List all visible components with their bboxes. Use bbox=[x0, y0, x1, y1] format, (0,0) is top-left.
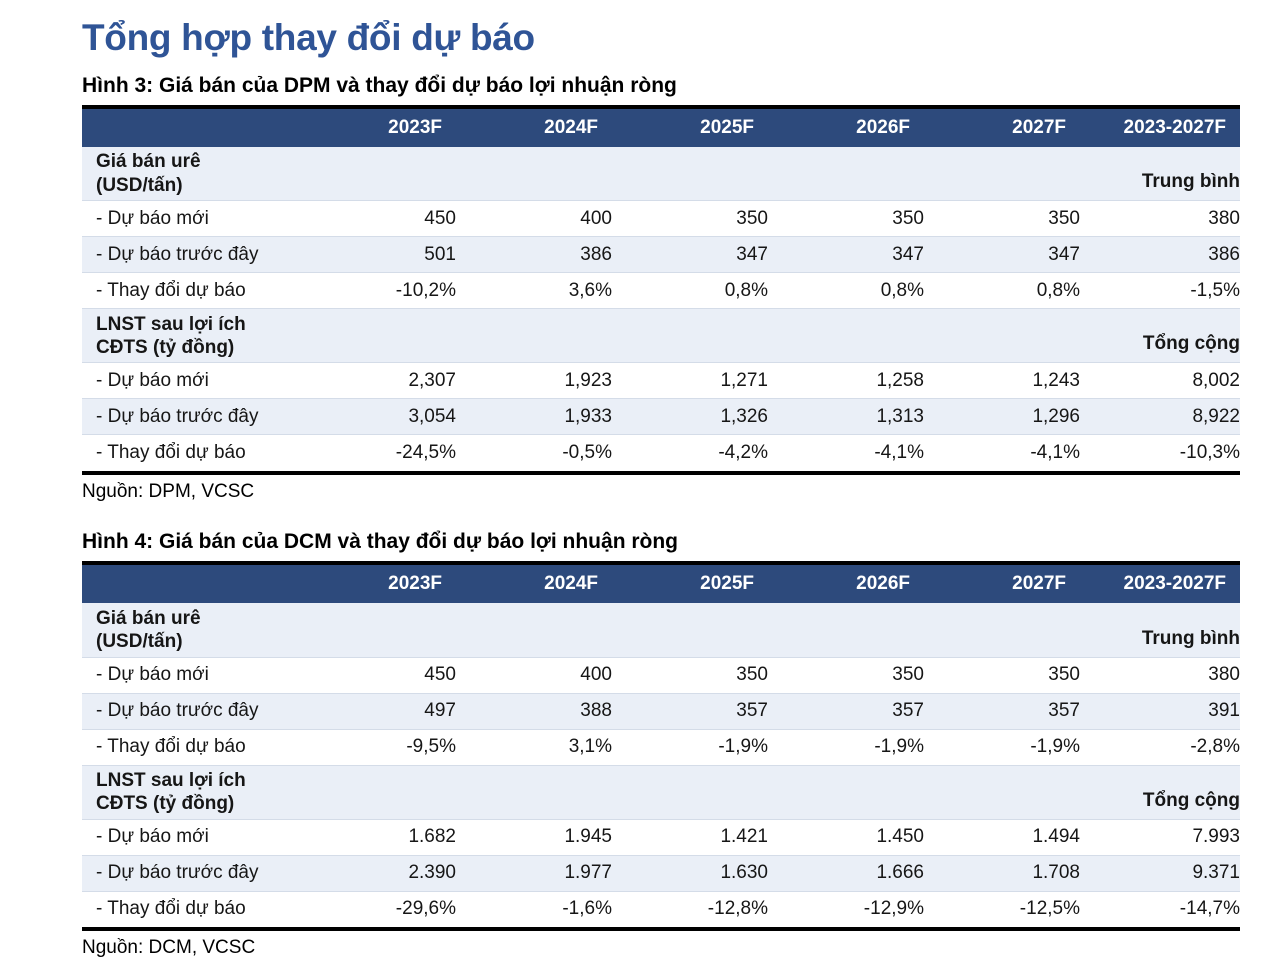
section-header-row: LNST sau lợi ích CĐTS (tỷ đồng) Tổng cộn… bbox=[82, 765, 1240, 819]
cell-value: -10,2% bbox=[300, 273, 456, 309]
cell-value: 1,933 bbox=[456, 399, 612, 435]
cell-value: -24,5% bbox=[300, 435, 456, 471]
section-summary-label: Tổng cộng bbox=[1080, 765, 1240, 819]
section-summary-label: Tổng cộng bbox=[1080, 309, 1240, 363]
table-row: - Dự báo trước đây 3,054 1,933 1,326 1,3… bbox=[82, 399, 1240, 435]
cell-value: 8,922 bbox=[1080, 399, 1240, 435]
column-header-2023f: 2023F bbox=[300, 563, 456, 603]
figure-2-table: 2023F 2024F 2025F 2026F 2027F 2023-2027F… bbox=[82, 561, 1240, 927]
cell-value: -12,8% bbox=[612, 891, 768, 927]
cell-value: 1,243 bbox=[924, 363, 1080, 399]
cell-value: 1.450 bbox=[768, 819, 924, 855]
cell-value: -1,6% bbox=[456, 891, 612, 927]
cell-value: -0,5% bbox=[456, 435, 612, 471]
cell-value: 357 bbox=[768, 693, 924, 729]
section-label: LNST sau lợi ích CĐTS (tỷ đồng) bbox=[82, 309, 300, 363]
cell-value: 3,6% bbox=[456, 273, 612, 309]
table-row: - Dự báo mới 450 400 350 350 350 380 bbox=[82, 201, 1240, 237]
section-summary-label: Trung bình bbox=[1080, 147, 1240, 201]
cell-value: -2,8% bbox=[1080, 729, 1240, 765]
section-blank-cell bbox=[456, 147, 612, 201]
row-label: - Thay đổi dự báo bbox=[82, 891, 300, 927]
section-blank-cell bbox=[924, 147, 1080, 201]
section-label-line2: CĐTS (tỷ đồng) bbox=[96, 337, 234, 358]
figure-1-table: 2023F 2024F 2025F 2026F 2027F 2023-2027F… bbox=[82, 105, 1240, 471]
cell-value: 350 bbox=[924, 657, 1080, 693]
table-row: - Thay đổi dự báo -9,5% 3,1% -1,9% -1,9%… bbox=[82, 729, 1240, 765]
column-header-label bbox=[82, 563, 300, 603]
cell-value: 1,258 bbox=[768, 363, 924, 399]
cell-value: -29,6% bbox=[300, 891, 456, 927]
section-blank-cell bbox=[612, 309, 768, 363]
row-label: - Dự báo trước đây bbox=[82, 399, 300, 435]
cell-value: 386 bbox=[1080, 237, 1240, 273]
cell-value: -12,5% bbox=[924, 891, 1080, 927]
section-label-line1: LNST sau lợi ích bbox=[96, 314, 246, 335]
cell-value: 357 bbox=[924, 693, 1080, 729]
cell-value: 0,8% bbox=[924, 273, 1080, 309]
column-header-2023f: 2023F bbox=[300, 107, 456, 147]
column-header-range: 2023-2027F bbox=[1080, 107, 1240, 147]
cell-value: 450 bbox=[300, 201, 456, 237]
section-label-line1: Giá bán urê bbox=[96, 151, 201, 172]
cell-value: -10,3% bbox=[1080, 435, 1240, 471]
section-blank-cell bbox=[456, 765, 612, 819]
cell-value: -1,9% bbox=[768, 729, 924, 765]
cell-value: 1.977 bbox=[456, 855, 612, 891]
cell-value: 347 bbox=[768, 237, 924, 273]
column-header-2025f: 2025F bbox=[612, 107, 768, 147]
row-label: - Dự báo trước đây bbox=[82, 237, 300, 273]
table-row: - Dự báo trước đây 501 386 347 347 347 3… bbox=[82, 237, 1240, 273]
cell-value: 380 bbox=[1080, 201, 1240, 237]
cell-value: 347 bbox=[924, 237, 1080, 273]
cell-value: 450 bbox=[300, 657, 456, 693]
cell-value: -4,2% bbox=[612, 435, 768, 471]
row-label: - Dự báo mới bbox=[82, 363, 300, 399]
cell-value: 2,307 bbox=[300, 363, 456, 399]
document-page: Tổng hợp thay đổi dự báo Hình 3: Giá bán… bbox=[0, 0, 1280, 959]
section-label-line1: Giá bán urê bbox=[96, 608, 201, 629]
column-header-label bbox=[82, 107, 300, 147]
section-blank-cell bbox=[456, 603, 612, 657]
section-label-line2: CĐTS (tỷ đồng) bbox=[96, 793, 234, 814]
row-label: - Dự báo mới bbox=[82, 657, 300, 693]
section-summary-label: Trung bình bbox=[1080, 603, 1240, 657]
cell-value: 3,054 bbox=[300, 399, 456, 435]
cell-value: 350 bbox=[768, 657, 924, 693]
cell-value: -1,9% bbox=[924, 729, 1080, 765]
section-header-row: Giá bán urê (USD/tấn) Trung bình bbox=[82, 603, 1240, 657]
section-label-line2: (USD/tấn) bbox=[96, 175, 183, 196]
cell-value: 1.666 bbox=[768, 855, 924, 891]
cell-value: -9,5% bbox=[300, 729, 456, 765]
table-header-row: 2023F 2024F 2025F 2026F 2027F 2023-2027F bbox=[82, 563, 1240, 603]
section-header-row: Giá bán urê (USD/tấn) Trung bình bbox=[82, 147, 1240, 201]
cell-value: -12,9% bbox=[768, 891, 924, 927]
row-label: - Dự báo mới bbox=[82, 201, 300, 237]
cell-value: 1.494 bbox=[924, 819, 1080, 855]
cell-value: 388 bbox=[456, 693, 612, 729]
cell-value: 350 bbox=[612, 657, 768, 693]
column-header-2027f: 2027F bbox=[924, 563, 1080, 603]
cell-value: 497 bbox=[300, 693, 456, 729]
section-label: Giá bán urê (USD/tấn) bbox=[82, 603, 300, 657]
cell-value: 350 bbox=[924, 201, 1080, 237]
cell-value: -1,5% bbox=[1080, 273, 1240, 309]
table-row: - Thay đổi dự báo -24,5% -0,5% -4,2% -4,… bbox=[82, 435, 1240, 471]
row-label: - Dự báo mới bbox=[82, 819, 300, 855]
cell-value: 1.682 bbox=[300, 819, 456, 855]
column-header-range: 2023-2027F bbox=[1080, 563, 1240, 603]
section-label-line2: (USD/tấn) bbox=[96, 631, 183, 652]
figure-1-source: Nguồn: DPM, VCSC bbox=[82, 471, 1240, 503]
figure-2-source: Nguồn: DCM, VCSC bbox=[82, 927, 1240, 959]
cell-value: 501 bbox=[300, 237, 456, 273]
cell-value: 3,1% bbox=[456, 729, 612, 765]
cell-value: 1,296 bbox=[924, 399, 1080, 435]
cell-value: 357 bbox=[612, 693, 768, 729]
table-row: - Dự báo mới 1.682 1.945 1.421 1.450 1.4… bbox=[82, 819, 1240, 855]
cell-value: 1.630 bbox=[612, 855, 768, 891]
table-header-row: 2023F 2024F 2025F 2026F 2027F 2023-2027F bbox=[82, 107, 1240, 147]
column-header-2024f: 2024F bbox=[456, 563, 612, 603]
section-blank-cell bbox=[924, 309, 1080, 363]
cell-value: 9.371 bbox=[1080, 855, 1240, 891]
column-header-2027f: 2027F bbox=[924, 107, 1080, 147]
section-blank-cell bbox=[612, 603, 768, 657]
table-row: - Dự báo mới 2,307 1,923 1,271 1,258 1,2… bbox=[82, 363, 1240, 399]
figure-1-title: Hình 3: Giá bán của DPM và thay đổi dự b… bbox=[82, 73, 1240, 98]
section-blank-cell bbox=[768, 765, 924, 819]
column-header-2026f: 2026F bbox=[768, 107, 924, 147]
row-label: - Dự báo trước đây bbox=[82, 855, 300, 891]
section-blank-cell bbox=[456, 309, 612, 363]
row-label: - Dự báo trước đây bbox=[82, 693, 300, 729]
section-label: Giá bán urê (USD/tấn) bbox=[82, 147, 300, 201]
cell-value: 8,002 bbox=[1080, 363, 1240, 399]
section-blank-cell bbox=[924, 603, 1080, 657]
cell-value: 347 bbox=[612, 237, 768, 273]
table-row: - Dự báo trước đây 2.390 1.977 1.630 1.6… bbox=[82, 855, 1240, 891]
cell-value: -4,1% bbox=[768, 435, 924, 471]
section-blank-cell bbox=[924, 765, 1080, 819]
section-blank-cell bbox=[612, 765, 768, 819]
column-header-2024f: 2024F bbox=[456, 107, 612, 147]
cell-value: 380 bbox=[1080, 657, 1240, 693]
cell-value: 1,923 bbox=[456, 363, 612, 399]
cell-value: -14,7% bbox=[1080, 891, 1240, 927]
row-label: - Thay đổi dự báo bbox=[82, 729, 300, 765]
column-header-2026f: 2026F bbox=[768, 563, 924, 603]
section-blank-cell bbox=[612, 147, 768, 201]
cell-value: 391 bbox=[1080, 693, 1240, 729]
row-label: - Thay đổi dự báo bbox=[82, 273, 300, 309]
section-blank-cell bbox=[768, 309, 924, 363]
section-label: LNST sau lợi ích CĐTS (tỷ đồng) bbox=[82, 765, 300, 819]
cell-value: 7.993 bbox=[1080, 819, 1240, 855]
spacer bbox=[82, 503, 1240, 529]
cell-value: 350 bbox=[768, 201, 924, 237]
section-blank-cell bbox=[300, 309, 456, 363]
cell-value: 350 bbox=[612, 201, 768, 237]
section-header-row: LNST sau lợi ích CĐTS (tỷ đồng) Tổng cộn… bbox=[82, 309, 1240, 363]
cell-value: 0,8% bbox=[612, 273, 768, 309]
cell-value: 1,313 bbox=[768, 399, 924, 435]
cell-value: 2.390 bbox=[300, 855, 456, 891]
section-blank-cell bbox=[300, 603, 456, 657]
cell-value: 1.708 bbox=[924, 855, 1080, 891]
cell-value: 400 bbox=[456, 657, 612, 693]
section-blank-cell bbox=[768, 147, 924, 201]
cell-value: 1,271 bbox=[612, 363, 768, 399]
cell-value: 386 bbox=[456, 237, 612, 273]
cell-value: 400 bbox=[456, 201, 612, 237]
cell-value: -4,1% bbox=[924, 435, 1080, 471]
cell-value: 1.945 bbox=[456, 819, 612, 855]
section-label-line1: LNST sau lợi ích bbox=[96, 770, 246, 791]
page-title: Tổng hợp thay đổi dự báo bbox=[82, 18, 1240, 59]
cell-value: 1.421 bbox=[612, 819, 768, 855]
figure-2-title: Hình 4: Giá bán của DCM và thay đổi dự b… bbox=[82, 529, 1240, 554]
cell-value: 0,8% bbox=[768, 273, 924, 309]
table-row: - Thay đổi dự báo -10,2% 3,6% 0,8% 0,8% … bbox=[82, 273, 1240, 309]
section-blank-cell bbox=[768, 603, 924, 657]
section-blank-cell bbox=[300, 147, 456, 201]
cell-value: -1,9% bbox=[612, 729, 768, 765]
section-blank-cell bbox=[300, 765, 456, 819]
table-row: - Thay đổi dự báo -29,6% -1,6% -12,8% -1… bbox=[82, 891, 1240, 927]
cell-value: 1,326 bbox=[612, 399, 768, 435]
column-header-2025f: 2025F bbox=[612, 563, 768, 603]
row-label: - Thay đổi dự báo bbox=[82, 435, 300, 471]
table-row: - Dự báo mới 450 400 350 350 350 380 bbox=[82, 657, 1240, 693]
table-row: - Dự báo trước đây 497 388 357 357 357 3… bbox=[82, 693, 1240, 729]
